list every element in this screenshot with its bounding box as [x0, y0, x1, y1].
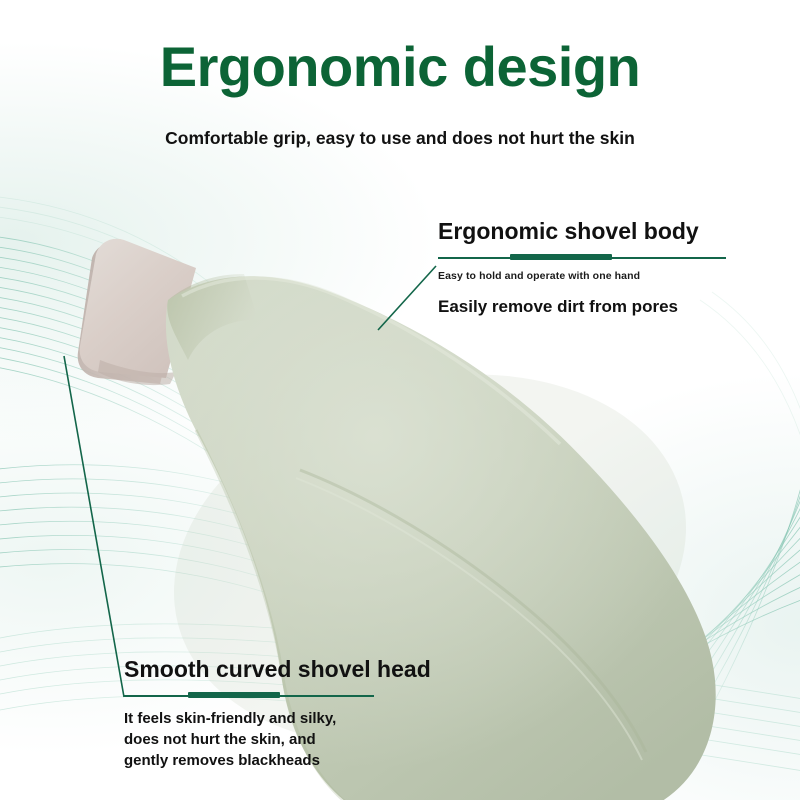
- description-line: gently removes blackheads: [124, 751, 374, 772]
- description-line: It feels skin-friendly and silky,: [124, 709, 374, 730]
- callout-shovel-head: Smooth curved shovel head It feels skin-…: [124, 656, 374, 772]
- divider-accent-bar: [188, 692, 280, 698]
- page-subtitle: Comfortable grip, easy to use and does n…: [0, 128, 800, 149]
- callout-shovel-body-title: Ergonomic shovel body: [438, 218, 726, 244]
- product-feature-poster: Ergonomic design Comfortable grip, easy …: [0, 0, 800, 800]
- callout-shovel-body-subtext: Easy to hold and operate with one hand: [438, 269, 653, 284]
- leader-line-shovel-body: [378, 266, 436, 330]
- divider-accent-bar: [510, 254, 612, 260]
- callout-shovel-head-divider: [124, 691, 374, 700]
- callout-shovel-head-title: Smooth curved shovel head: [124, 656, 374, 682]
- callout-shovel-body: Ergonomic shovel body Easy to hold and o…: [438, 218, 726, 319]
- callout-shovel-body-highlight: Easily remove dirt from pores: [438, 296, 726, 319]
- description-line: does not hurt the skin, and: [124, 730, 374, 751]
- page-title: Ergonomic design: [0, 34, 800, 99]
- callout-shovel-body-divider: [438, 253, 726, 262]
- leader-line-shovel-head: [64, 356, 124, 697]
- callout-shovel-head-description: It feels skin-friendly and silky, does n…: [124, 709, 374, 771]
